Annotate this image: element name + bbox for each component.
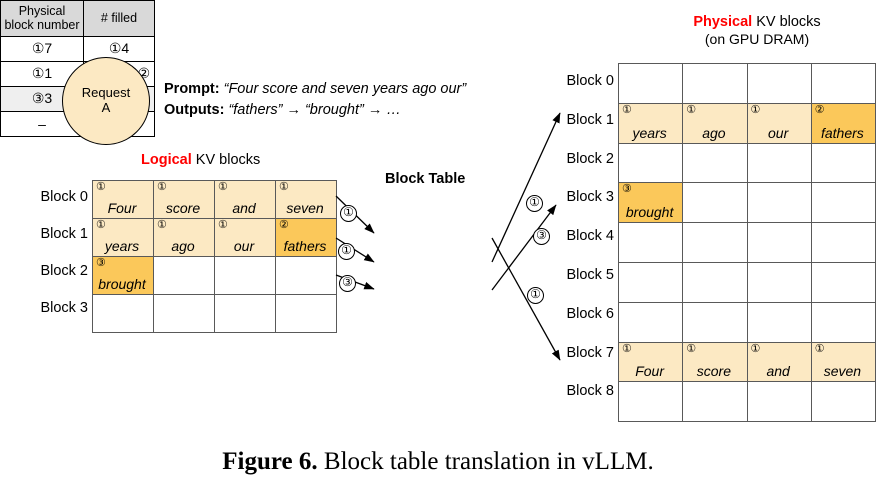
table-row: ①Four①score①and①seven xyxy=(619,342,876,382)
kv-block-cell xyxy=(619,262,683,302)
arrow-label-left-2: ① xyxy=(338,243,355,260)
cell-step-number: ① xyxy=(96,182,106,193)
kv-block-cell xyxy=(154,257,215,295)
kv-block-cell: ①Four xyxy=(93,181,154,219)
kv-block-cell xyxy=(683,223,747,263)
logical-row-label-2: Block 2 xyxy=(40,263,88,279)
kv-block-cell xyxy=(747,302,811,342)
cell-step-number: ① xyxy=(751,105,761,116)
cell-step-number: ② xyxy=(279,220,289,231)
kv-block-cell xyxy=(811,183,875,223)
table-row xyxy=(93,295,337,333)
kv-block-cell: ②fathers xyxy=(811,103,875,143)
arrow-label-right-1: ① xyxy=(526,195,543,212)
kv-block-cell: ①our xyxy=(215,219,276,257)
request-label-line1: Request xyxy=(82,86,130,101)
outputs-label: Outputs: xyxy=(164,102,224,118)
cell-step-number: ① xyxy=(157,182,167,193)
kv-block-cell xyxy=(215,257,276,295)
cell-step-number: ① xyxy=(157,220,167,231)
cell-token: brought xyxy=(93,277,151,291)
cell-token: fathers xyxy=(812,126,873,140)
kv-block-cell: ①ago xyxy=(683,103,747,143)
kv-block-cell xyxy=(619,64,683,104)
kv-block-cell: ③brought xyxy=(619,183,683,223)
cell-token: and xyxy=(215,201,273,215)
physical-row-label-8: Block 8 xyxy=(566,383,614,399)
block-table-header-row: Physical block number # filled xyxy=(1,1,155,37)
kv-block-cell: ①ago xyxy=(154,219,215,257)
kv-block-cell: ①years xyxy=(619,103,683,143)
arrow-label-left-1: ① xyxy=(340,205,357,222)
prompt-outputs-block: Prompt: “Four score and seven years ago … xyxy=(164,79,466,121)
physical-kv-blocks-table: ①years①ago①our②fathers③brought①Four①scor… xyxy=(618,63,876,422)
figure-caption: Figure 6. Block table translation in vLL… xyxy=(0,448,876,476)
kv-block-cell xyxy=(619,382,683,422)
kv-block-cell xyxy=(683,143,747,183)
table-row xyxy=(619,302,876,342)
cell-step-number: ① xyxy=(686,105,696,116)
physical-title-highlight: Physical xyxy=(693,14,752,30)
table-row xyxy=(619,382,876,422)
kv-block-cell: ②fathers xyxy=(276,219,337,257)
logical-title-rest: KV blocks xyxy=(192,152,261,168)
physical-kv-blocks-title: Physical KV blocks (on GPU DRAM) xyxy=(644,14,870,47)
cell-token: fathers xyxy=(276,239,334,253)
physical-row-label-4: Block 4 xyxy=(566,228,614,244)
kv-block-cell xyxy=(747,64,811,104)
kv-block-cell xyxy=(619,223,683,263)
table-row: ③brought xyxy=(619,183,876,223)
prompt-line: Prompt: “Four score and seven years ago … xyxy=(164,79,466,100)
arrow-blocktable-to-physical-1 xyxy=(492,113,560,262)
physical-row-label-7: Block 7 xyxy=(566,345,614,361)
cell-step-number: ① xyxy=(96,220,106,231)
cell-token: score xyxy=(154,201,212,215)
physical-row-label-6: Block 6 xyxy=(566,306,614,322)
cell-step-number: ① xyxy=(751,344,761,355)
kv-block-cell xyxy=(154,295,215,333)
block-table-title: Block Table xyxy=(385,171,465,187)
logical-row-label-3: Block 3 xyxy=(40,300,88,316)
kv-block-cell xyxy=(683,382,747,422)
kv-block-cell xyxy=(93,295,154,333)
kv-block-cell: ①and xyxy=(215,181,276,219)
kv-block-cell xyxy=(747,223,811,263)
logical-kv-blocks-title: Logical KV blocks xyxy=(141,152,260,168)
kv-block-cell xyxy=(683,262,747,302)
table-row: ①years①ago①our②fathers xyxy=(619,103,876,143)
cell-token: ago xyxy=(154,239,212,253)
cell-token: years xyxy=(619,126,680,140)
kv-block-cell: ①our xyxy=(747,103,811,143)
cell-step-number: ① xyxy=(218,182,228,193)
logical-row-label-1: Block 1 xyxy=(40,226,88,242)
logical-title-highlight: Logical xyxy=(141,152,192,168)
kv-block-cell xyxy=(811,223,875,263)
arrow-label-left-3: ③ xyxy=(339,275,356,292)
logical-row-label-0: Block 0 xyxy=(40,189,88,205)
cell-token: Four xyxy=(619,364,680,378)
cell-token: seven xyxy=(276,201,334,215)
kv-block-cell: ①seven xyxy=(811,342,875,382)
figure-number: Figure 6. xyxy=(222,448,317,475)
kv-block-cell xyxy=(619,143,683,183)
physical-row-label-2: Block 2 xyxy=(566,151,614,167)
cell-step-number: ③ xyxy=(96,258,106,269)
cell-token: years xyxy=(93,239,151,253)
physical-title-subtitle: (on GPU DRAM) xyxy=(644,31,870,47)
arrow-label-right-3: ③ xyxy=(533,228,550,245)
kv-block-cell xyxy=(747,262,811,302)
block-table-header-num-filled: # filled xyxy=(84,1,155,37)
kv-block-cell xyxy=(683,183,747,223)
physical-row-label-0: Block 0 xyxy=(566,73,614,89)
arrow-blocktable-to-physical-3 xyxy=(492,205,556,290)
arrow-label-right-7: ① xyxy=(527,287,544,304)
cell-token: our xyxy=(748,126,809,140)
prompt-label: Prompt: xyxy=(164,81,220,97)
table-row: ①years①ago①our②fathers xyxy=(93,219,337,257)
kv-block-cell xyxy=(683,302,747,342)
cell-token: our xyxy=(215,239,273,253)
kv-block-cell: ①score xyxy=(683,342,747,382)
cell-step-number: ① xyxy=(686,344,696,355)
cell-step-number: ① xyxy=(622,105,632,116)
kv-block-cell xyxy=(747,183,811,223)
kv-block-cell: ①seven xyxy=(276,181,337,219)
outputs-line: Outputs: “fathers” → “brought” → … xyxy=(164,100,466,121)
cell-step-number: ① xyxy=(279,182,289,193)
table-row xyxy=(619,262,876,302)
kv-block-cell: ①and xyxy=(747,342,811,382)
prompt-text: “Four score and seven years ago our” xyxy=(224,81,467,97)
table-row: ①Four①score①and①seven xyxy=(93,181,337,219)
table-row xyxy=(619,143,876,183)
block-table-physical-block-number: ①7 xyxy=(1,36,84,61)
physical-row-label-5: Block 5 xyxy=(566,267,614,283)
physical-row-label-1: Block 1 xyxy=(566,112,614,128)
figure-caption-text: Block table translation in vLLM. xyxy=(318,448,654,475)
kv-block-cell xyxy=(811,302,875,342)
kv-block-cell xyxy=(811,64,875,104)
block-table-header-physical-block-number: Physical block number xyxy=(1,1,84,37)
kv-block-cell xyxy=(811,143,875,183)
kv-block-cell xyxy=(683,64,747,104)
cell-step-number: ② xyxy=(815,105,825,116)
cell-token: seven xyxy=(812,364,873,378)
outputs-text: “fathers” → “brought” → … xyxy=(228,102,400,118)
table-row xyxy=(619,223,876,263)
cell-step-number: ① xyxy=(622,344,632,355)
kv-block-cell xyxy=(276,257,337,295)
cell-step-number: ① xyxy=(218,220,228,231)
physical-row-label-3: Block 3 xyxy=(566,189,614,205)
request-label-line2: A xyxy=(102,101,111,116)
kv-block-cell xyxy=(619,302,683,342)
arrow-blocktable-to-physical-7 xyxy=(492,238,560,360)
cell-token: score xyxy=(683,364,744,378)
kv-block-cell xyxy=(215,295,276,333)
kv-block-cell xyxy=(747,382,811,422)
cell-token: Four xyxy=(93,201,151,215)
kv-block-cell: ①Four xyxy=(619,342,683,382)
physical-title-rest: KV blocks xyxy=(752,14,821,30)
table-row: ③brought xyxy=(93,257,337,295)
kv-block-cell: ③brought xyxy=(93,257,154,295)
cell-token: ago xyxy=(683,126,744,140)
kv-block-cell xyxy=(811,382,875,422)
kv-block-cell xyxy=(811,262,875,302)
request-circle: Request A xyxy=(62,57,150,145)
kv-block-cell xyxy=(747,143,811,183)
logical-kv-blocks-table: ①Four①score①and①seven①years①ago①our②fath… xyxy=(92,180,337,333)
table-row xyxy=(619,64,876,104)
block-table-row: ①7①4 xyxy=(1,36,155,61)
cell-step-number: ① xyxy=(815,344,825,355)
kv-block-cell: ①years xyxy=(93,219,154,257)
cell-step-number: ③ xyxy=(622,184,632,195)
kv-block-cell xyxy=(276,295,337,333)
cell-token: brought xyxy=(619,205,680,219)
cell-token: and xyxy=(748,364,809,378)
kv-block-cell: ①score xyxy=(154,181,215,219)
